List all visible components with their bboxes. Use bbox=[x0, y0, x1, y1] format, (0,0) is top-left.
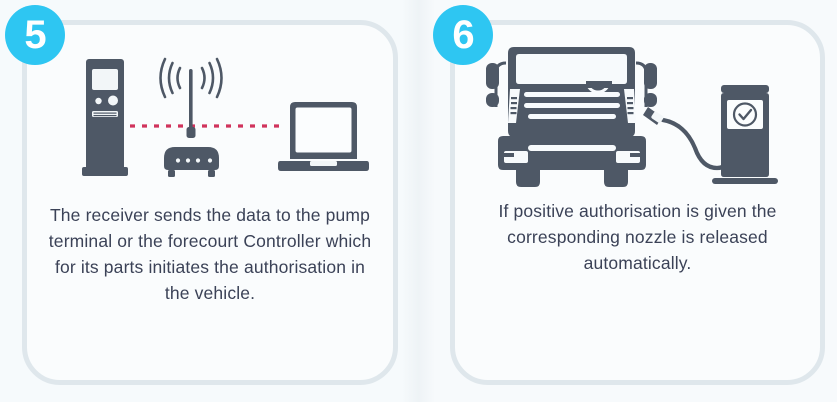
step-badge-5: 5 bbox=[5, 5, 65, 65]
step-caption-6: If positive authorisation is given the c… bbox=[470, 198, 805, 276]
step-badge-6: 6 bbox=[433, 5, 493, 65]
illustration-pump-terminal-router-laptop bbox=[22, 45, 398, 190]
laptop-icon bbox=[278, 102, 369, 171]
fuel-nozzle-icon bbox=[643, 107, 664, 125]
wifi-router-icon bbox=[161, 59, 222, 177]
truck-front-icon bbox=[486, 47, 657, 187]
infographic-stage: 5 bbox=[0, 0, 837, 402]
step-caption-5: The receiver sends the data to the pump … bbox=[44, 202, 376, 306]
fuel-pump-icon bbox=[712, 85, 778, 184]
pump-terminal-icon bbox=[82, 59, 128, 176]
illustration-truck-refuelling bbox=[450, 45, 825, 190]
